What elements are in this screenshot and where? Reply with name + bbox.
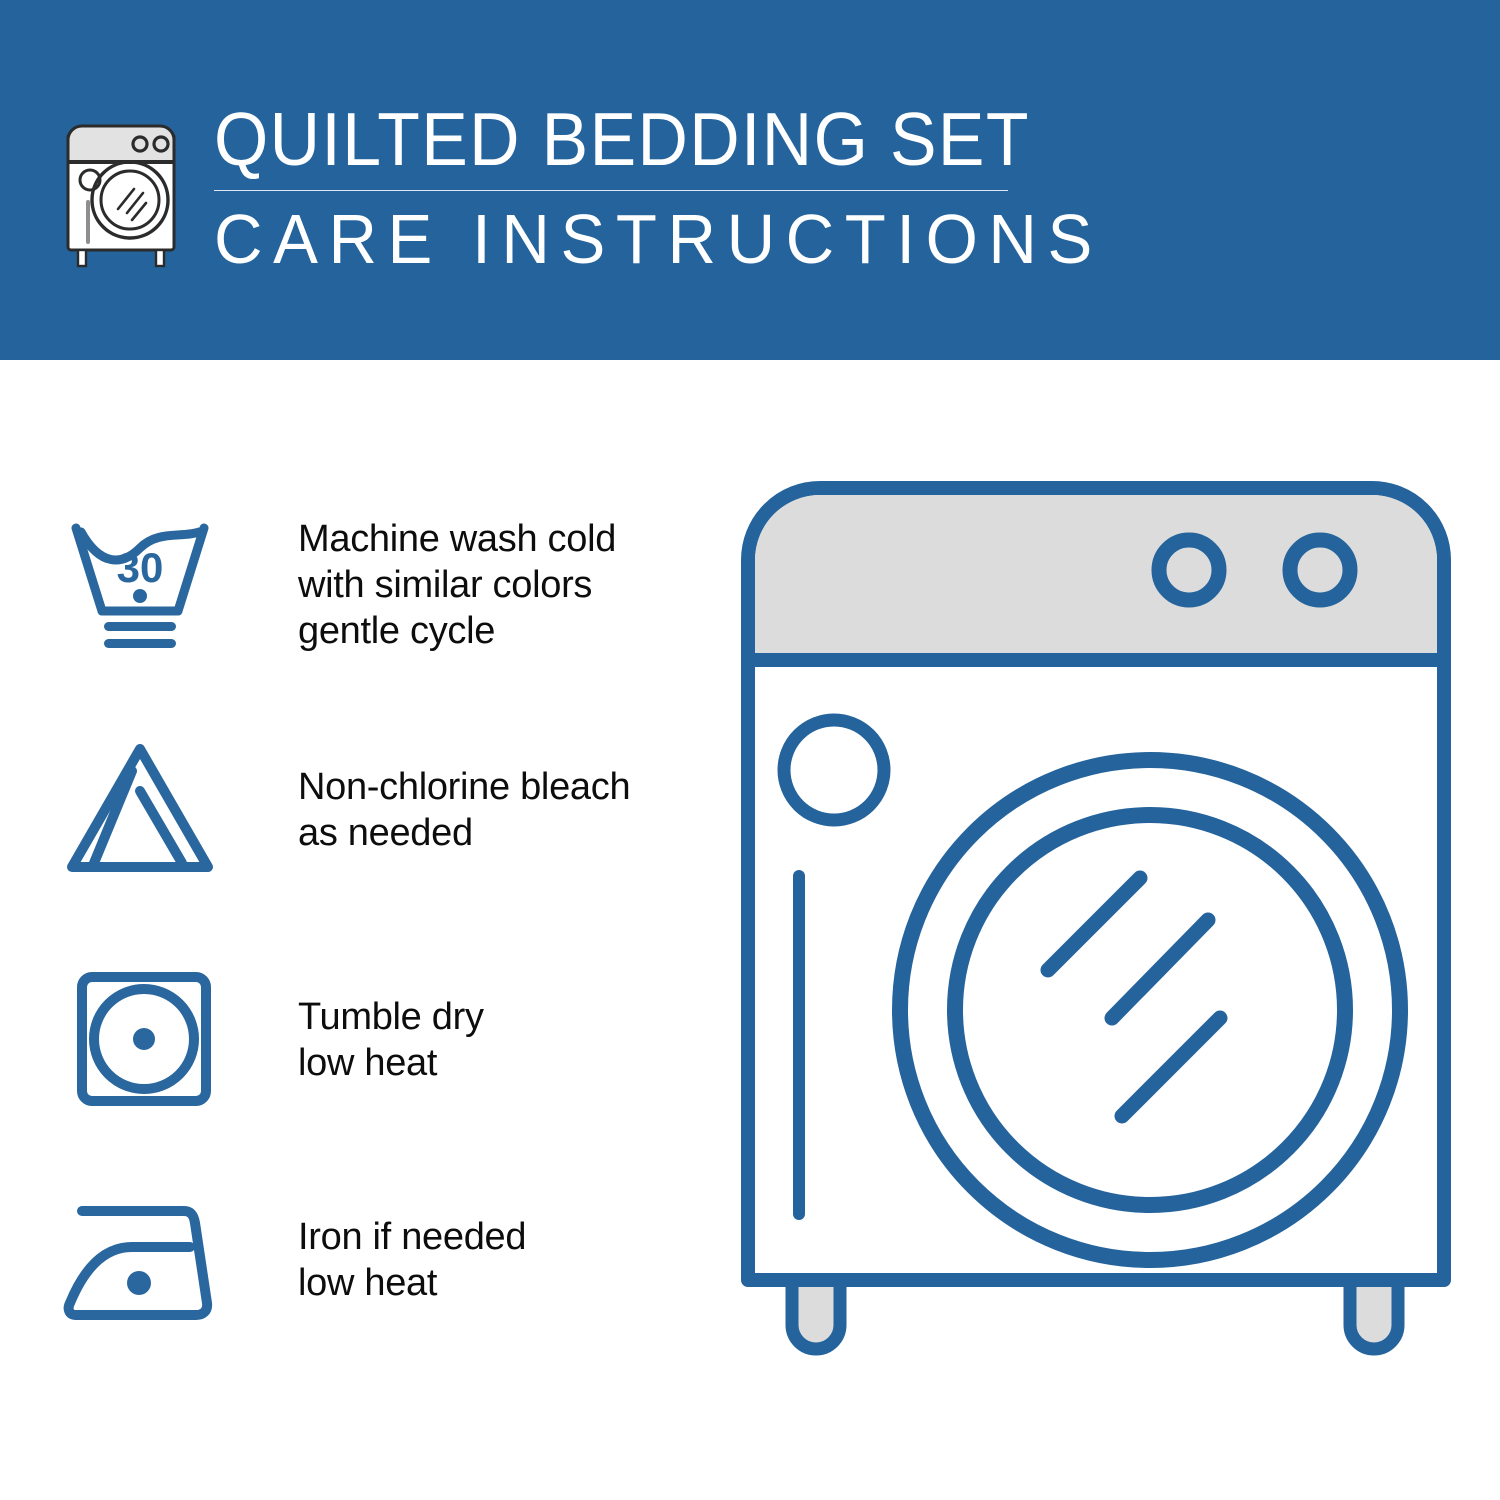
care-text-line: gentle cycle xyxy=(298,608,616,654)
care-text-line: low heat xyxy=(298,1260,526,1306)
care-text-line: Non-chlorine bleach xyxy=(298,764,630,810)
care-instructions-list: 30 Machine wash cold with similar colors… xyxy=(0,360,720,1500)
tumble-dry-low-icon xyxy=(60,965,235,1115)
care-instruction-item-wash: 30 Machine wash cold with similar colors… xyxy=(60,510,720,660)
washing-machine-icon xyxy=(62,108,180,268)
dispenser-indicator xyxy=(784,720,884,820)
wash-temperature-label: 30 xyxy=(117,544,164,591)
care-instruction-item-bleach: Non-chlorine bleach as needed xyxy=(60,735,720,885)
non-chlorine-bleach-triangle-icon xyxy=(60,735,235,885)
care-instruction-text-bleach: Non-chlorine bleach as needed xyxy=(298,764,630,856)
knob-right xyxy=(1290,540,1350,600)
wash-tub-30-icon: 30 xyxy=(60,510,235,660)
care-instruction-item-iron: Iron if needed low heat xyxy=(60,1185,720,1335)
care-text-line: Iron if needed xyxy=(298,1214,526,1260)
iron-low-heat-icon xyxy=(60,1185,235,1335)
care-text-line: as needed xyxy=(298,810,630,856)
page-header: QUILTED BEDDING SET CARE INSTRUCTIONS xyxy=(0,0,1500,360)
page-subtitle: CARE INSTRUCTIONS xyxy=(214,197,992,281)
care-text-line: Machine wash cold xyxy=(298,516,616,562)
knob-left xyxy=(1159,540,1219,600)
care-text-line: Tumble dry xyxy=(298,994,484,1040)
status-bar xyxy=(793,870,805,1220)
care-text-line: low heat xyxy=(298,1040,484,1086)
care-instruction-text-iron: Iron if needed low heat xyxy=(298,1214,526,1306)
header-divider xyxy=(214,190,1008,191)
front-load-washing-machine-illustration xyxy=(730,470,1470,1430)
page-title: QUILTED BEDDING SET xyxy=(214,96,967,182)
header-text-block: QUILTED BEDDING SET CARE INSTRUCTIONS xyxy=(214,96,1024,281)
care-instruction-item-tumble-dry: Tumble dry low heat xyxy=(60,965,720,1115)
care-text-line: with similar colors xyxy=(298,562,616,608)
care-instruction-text-tumble-dry: Tumble dry low heat xyxy=(298,994,484,1086)
care-instruction-text-wash: Machine wash cold with similar colors ge… xyxy=(298,516,616,654)
